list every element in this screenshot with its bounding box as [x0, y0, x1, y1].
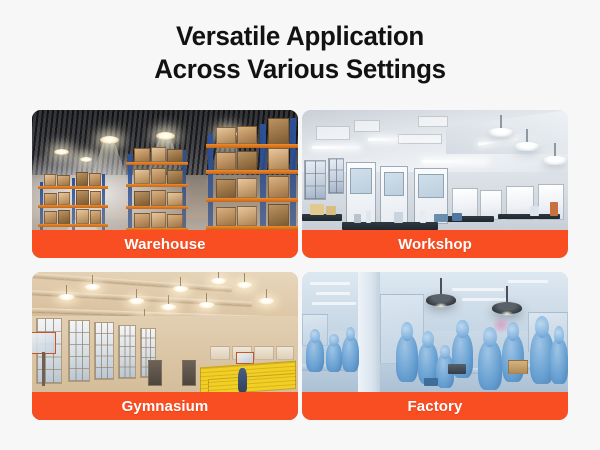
pendant-light-icon — [236, 282, 253, 289]
pendant-light-icon — [198, 302, 215, 309]
application-card-grid: Warehouse — [32, 110, 568, 420]
worker-figure — [502, 334, 524, 382]
card-caption-warehouse: Warehouse — [32, 230, 298, 258]
application-card-factory[interactable]: Factory — [302, 272, 568, 420]
high-bay-light-icon — [156, 132, 175, 140]
pendant-light-icon — [128, 298, 145, 305]
basketball-hoop-icon — [32, 332, 56, 354]
pendant-light-icon — [492, 302, 522, 314]
worker-figure — [396, 334, 418, 382]
pendant-light-icon — [488, 128, 514, 137]
pendant-light-icon — [542, 156, 568, 165]
application-card-workshop[interactable]: Workshop — [302, 110, 568, 258]
pendant-light-icon — [210, 278, 227, 285]
pendant-light-icon — [426, 294, 456, 306]
worker-figure — [326, 342, 342, 372]
pendant-light-icon — [160, 304, 177, 311]
pendant-light-icon — [58, 294, 75, 301]
application-card-gymnasium[interactable]: Gymnasium — [32, 272, 298, 420]
card-caption-gymnasium: Gymnasium — [32, 392, 298, 420]
pendant-light-icon — [258, 298, 275, 305]
worker-figure — [478, 340, 502, 390]
page-title-line-1: Versatile Application — [12, 20, 588, 53]
card-caption-workshop: Workshop — [302, 230, 568, 258]
pendant-light-icon — [84, 284, 101, 291]
card-caption-factory: Factory — [302, 392, 568, 420]
application-card-warehouse[interactable]: Warehouse — [32, 110, 298, 258]
worker-figure — [306, 338, 324, 372]
promo-banner: Versatile Application Across Various Set… — [0, 0, 600, 450]
worker-figure — [342, 336, 359, 372]
pendant-light-icon — [514, 142, 540, 151]
page-title: Versatile Application Across Various Set… — [12, 20, 588, 86]
page-title-line-2: Across Various Settings — [12, 53, 588, 86]
pendant-light-icon — [172, 286, 189, 293]
worker-figure — [550, 338, 568, 384]
